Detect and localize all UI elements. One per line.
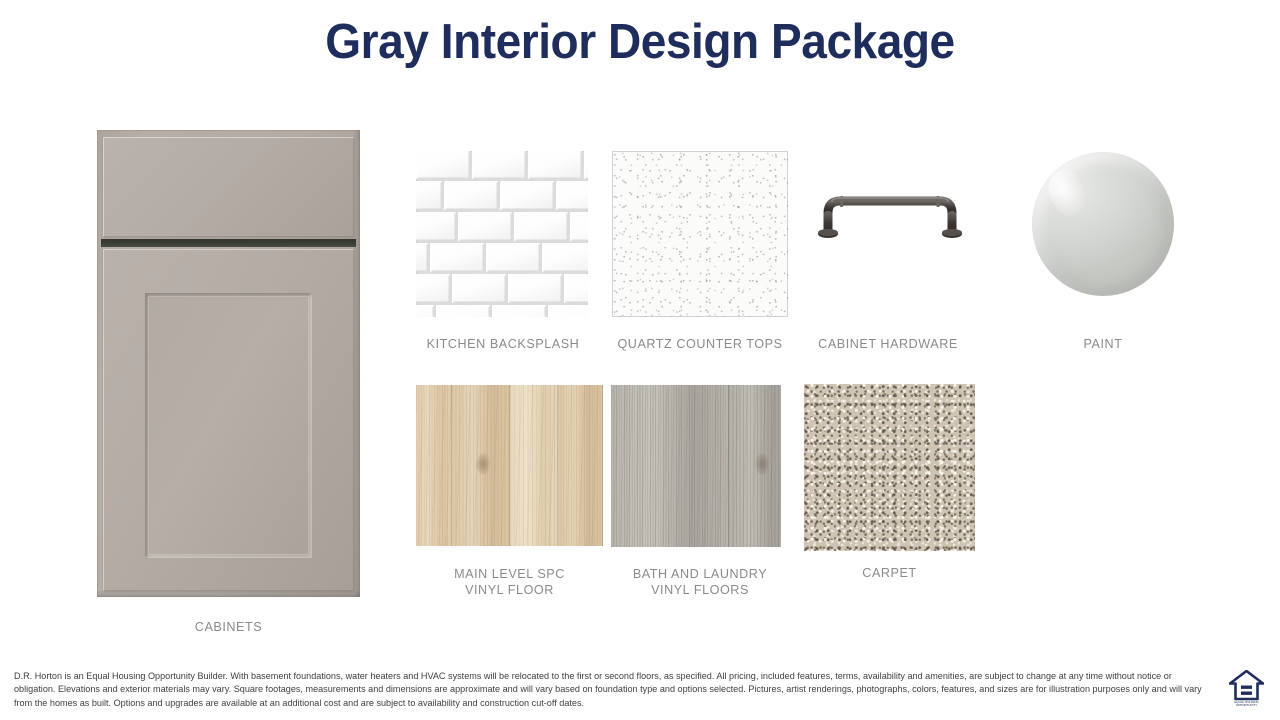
caption-carpet: CARPET — [804, 566, 975, 582]
wood-grain — [416, 385, 452, 546]
subway-tile-row — [416, 273, 588, 304]
wood-grain — [611, 385, 729, 547]
cabinet-bottom-shadow — [97, 590, 360, 597]
swatch-paint[interactable] — [1032, 152, 1174, 296]
swatch-kitchen-backsplash[interactable] — [416, 151, 588, 317]
cabinet-reveal-gap — [101, 239, 356, 247]
subway-tile-row — [416, 211, 588, 242]
subway-tile — [556, 181, 588, 210]
subway-tile — [416, 212, 456, 241]
swatch-cabinet-hardware[interactable] — [810, 151, 970, 317]
caption-kitchen-backsplash: KITCHEN BACKSPLASH — [404, 337, 602, 353]
subway-tile — [416, 274, 450, 303]
subway-tile — [416, 151, 470, 179]
caption-paint: PAINT — [1028, 337, 1178, 353]
eho-label: EQUAL HOUSING OPPORTUNITY — [1229, 701, 1264, 708]
swatch-bath-and-laundry-vinyl-floors[interactable] — [611, 385, 781, 547]
subway-tile — [492, 305, 546, 317]
wood-plank — [611, 385, 729, 547]
wood-knot — [755, 453, 769, 475]
subway-tile-row — [416, 151, 588, 180]
subway-tile — [528, 151, 582, 179]
subway-tile — [500, 181, 554, 210]
paint-blob-image — [1032, 152, 1174, 296]
wood-plank — [510, 385, 558, 546]
paint-highlight — [1041, 163, 1097, 224]
subway-tile — [416, 181, 442, 210]
swatch-main-level-spc-vinyl-floor[interactable] — [416, 385, 603, 546]
caption-bath-and-laundry-vinyl-floors: BATH AND LAUNDRY VINYL FLOORS — [606, 567, 794, 598]
subway-tile — [570, 212, 588, 241]
subway-tile-row — [416, 242, 588, 273]
wood-plank — [729, 385, 781, 547]
cabinet-right-shadow — [353, 130, 360, 597]
subway-tile-row — [416, 304, 588, 317]
swatch-cabinets[interactable] — [97, 130, 360, 597]
subway-tile — [548, 305, 588, 317]
caption-main-level-spc-vinyl-floor: MAIN LEVEL SPC VINYL FLOOR — [416, 567, 603, 598]
eho-house-glyph — [1229, 670, 1264, 701]
subway-tile — [436, 305, 490, 317]
legal-disclaimer: D.R. Horton is an Equal Housing Opportun… — [14, 670, 1212, 710]
wood-grain — [510, 385, 558, 546]
subway-tile — [472, 151, 526, 179]
swatch-carpet[interactable] — [804, 384, 975, 551]
subway-tile — [416, 243, 428, 272]
bar-pull-icon — [810, 151, 970, 317]
caption-cabinet-hardware: CABINET HARDWARE — [800, 337, 976, 353]
subway-tile — [584, 151, 588, 179]
subway-tile — [542, 243, 588, 272]
page-title: Gray Interior Design Package — [38, 14, 1241, 70]
cabinet-drawer-face — [103, 137, 354, 237]
wood-plank — [558, 385, 603, 546]
cabinet-door-image — [97, 130, 360, 597]
subway-tile — [486, 243, 540, 272]
subway-tile — [458, 212, 512, 241]
subway-tile — [508, 274, 562, 303]
swatch-quartz-counter-tops[interactable] — [612, 151, 788, 317]
subway-tile — [564, 274, 588, 303]
subway-tile — [416, 305, 434, 317]
cabinet-recessed-panel — [145, 293, 312, 558]
equal-housing-opportunity-icon: EQUAL HOUSING OPPORTUNITY — [1229, 670, 1264, 708]
wood-grain — [558, 385, 603, 546]
quartz-speckle-texture — [612, 151, 788, 317]
wood-plank — [416, 385, 452, 546]
caption-quartz-counter-tops: QUARTZ COUNTER TOPS — [600, 337, 800, 353]
cabinet-lower-door — [103, 249, 354, 591]
subway-tile — [430, 243, 484, 272]
subway-tile — [452, 274, 506, 303]
caption-cabinets: CABINETS — [97, 620, 360, 636]
subway-tile-row — [416, 180, 588, 211]
design-package-board: Gray Interior Design Package CABINETS KI… — [0, 0, 1280, 720]
wood-plank — [452, 385, 510, 546]
subway-tile — [514, 212, 568, 241]
subway-tile — [444, 181, 498, 210]
carpet-fleck-texture — [804, 384, 975, 551]
